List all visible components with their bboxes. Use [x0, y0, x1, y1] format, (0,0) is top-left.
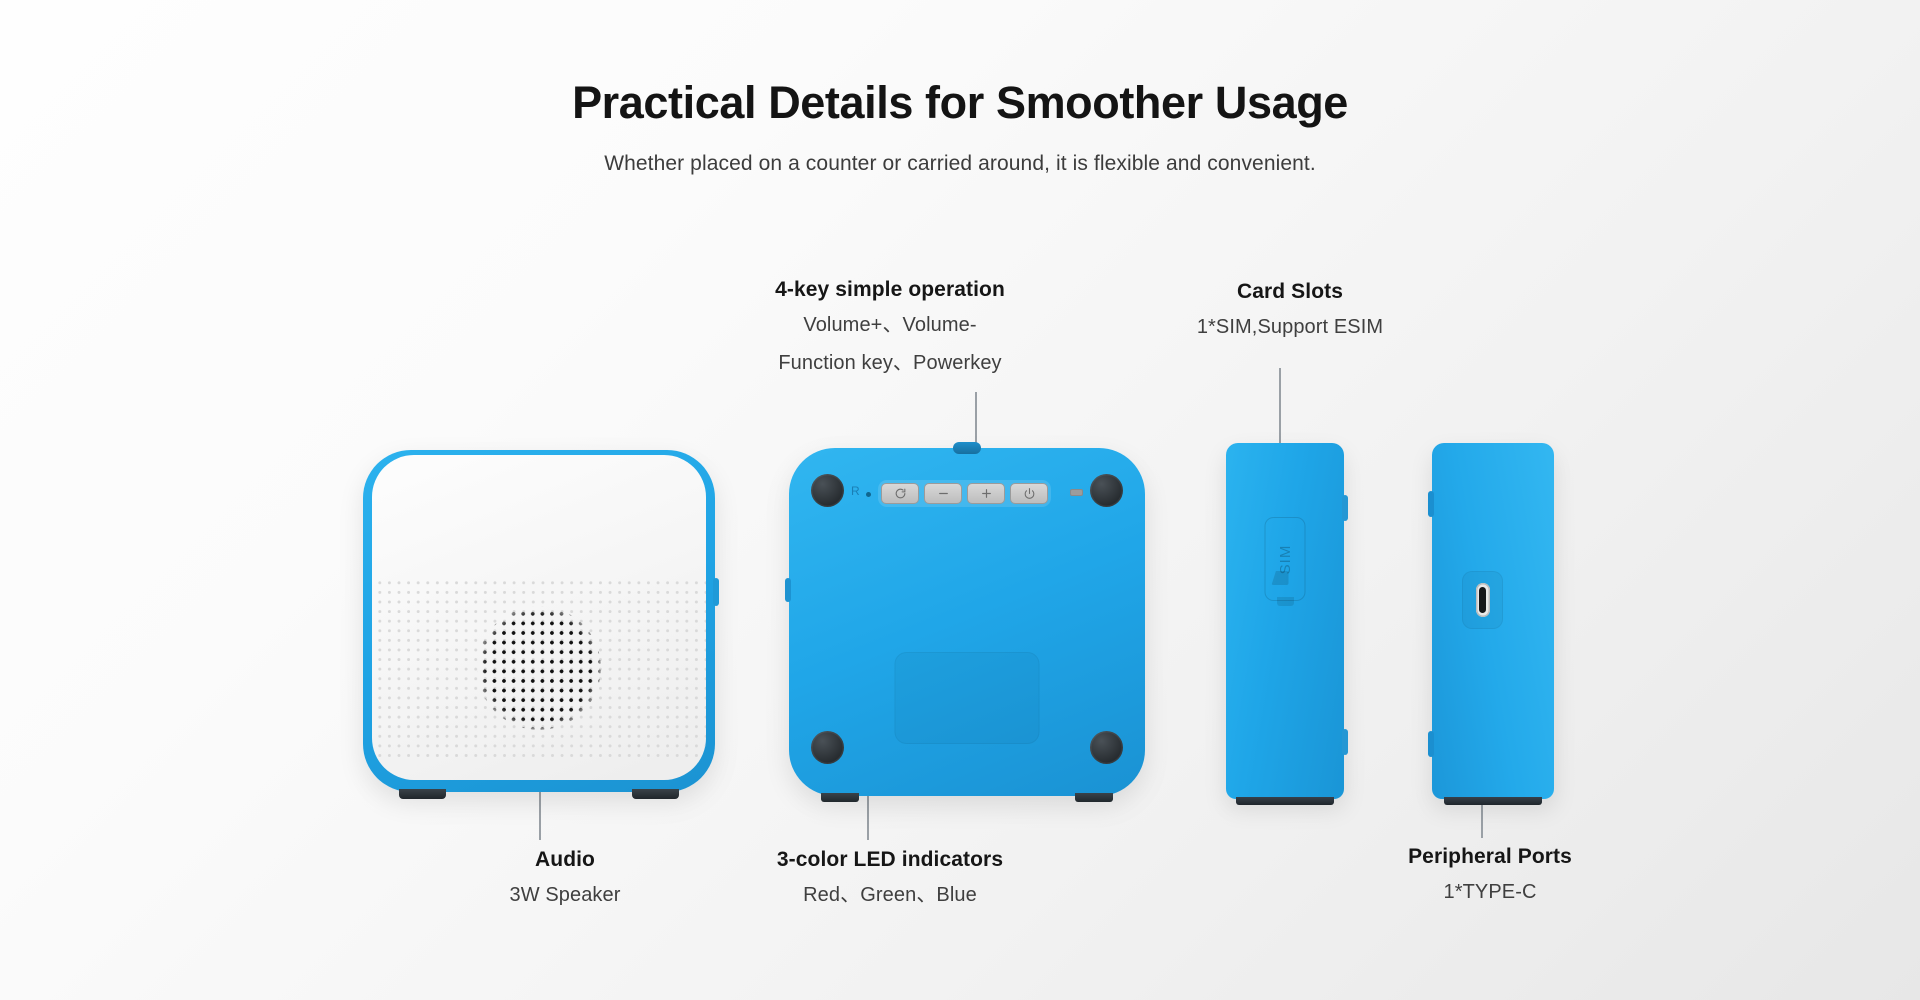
front-side-button: [713, 578, 719, 606]
back-top-notch: [953, 442, 981, 454]
minus-icon: [937, 487, 950, 500]
sim-tray-label: SIM: [1276, 544, 1293, 574]
back-foot-left: [821, 793, 859, 802]
rubber-foot-bottom-right: [1090, 731, 1123, 764]
callout-keys-line1: Volume+、Volume-: [700, 311, 1080, 340]
callout-keys-line2: Function key、Powerkey: [700, 349, 1080, 378]
type-c-recess: [1462, 571, 1503, 629]
front-foot-right: [632, 789, 679, 799]
callout-led-title: 3-color LED indicators: [700, 848, 1080, 872]
reset-loop-icon: [894, 487, 907, 500]
callout-audio: Audio 3W Speaker: [400, 848, 730, 910]
type-c-port-icon[interactable]: [1476, 583, 1490, 617]
callout-card-slots: Card Slots 1*SIM,Support ESIM: [1115, 280, 1465, 342]
speaker-grille-core: [477, 606, 601, 730]
callout-card-slots-title: Card Slots: [1115, 280, 1465, 304]
callout-card-slots-sub: 1*SIM,Support ESIM: [1115, 313, 1465, 342]
type-c-port-inner: [1479, 587, 1486, 613]
device-sim-side-view: SIM: [1226, 443, 1344, 799]
callout-audio-sub: 3W Speaker: [400, 881, 730, 910]
speaker-grille: [372, 575, 706, 761]
sim-tray-tab: [1277, 597, 1294, 606]
back-side-button: [785, 578, 791, 602]
sim-side-button-top: [1342, 495, 1348, 521]
port-side-foot: [1444, 797, 1542, 805]
sim-side-shell: [1226, 443, 1344, 799]
sim-card-icon: [1272, 571, 1289, 585]
back-foot-right: [1075, 793, 1113, 802]
callout-peripheral-ports: Peripheral Ports 1*TYPE-C: [1300, 845, 1680, 907]
callout-ports-title: Peripheral Ports: [1300, 845, 1680, 869]
page-subtitle: Whether placed on a counter or carried a…: [0, 152, 1920, 176]
back-label-panel: [895, 652, 1040, 744]
sim-side-button-bottom: [1342, 729, 1348, 755]
button-strip: [878, 480, 1051, 507]
port-side-button-bottom: [1428, 731, 1434, 757]
power-key[interactable]: [1010, 483, 1048, 504]
device-back-view: R: [789, 448, 1145, 796]
callout-ports-sub: 1*TYPE-C: [1300, 878, 1680, 907]
reset-label: R: [851, 484, 860, 498]
reset-pinhole[interactable]: [866, 492, 871, 497]
led-indicator-window: [1070, 489, 1083, 496]
plus-icon: [980, 487, 993, 500]
rubber-foot-top-left: [811, 474, 844, 507]
callout-led-sub: Red、Green、Blue: [700, 881, 1080, 910]
front-foot-left: [399, 789, 446, 799]
port-side-button-top: [1428, 491, 1434, 517]
device-port-side-view: [1432, 443, 1554, 799]
page-header: Practical Details for Smoother Usage Whe…: [0, 0, 1920, 176]
function-key[interactable]: [881, 483, 919, 504]
front-face-panel: [372, 455, 706, 780]
callout-audio-title: Audio: [400, 848, 730, 872]
callout-keys-title: 4-key simple operation: [700, 278, 1080, 302]
rubber-foot-top-right: [1090, 474, 1123, 507]
volume-up-key[interactable]: [967, 483, 1005, 504]
callout-4-key-operation: 4-key simple operation Volume+、Volume- F…: [700, 278, 1080, 378]
power-icon: [1023, 487, 1036, 500]
device-front-view: [363, 450, 715, 792]
page-title: Practical Details for Smoother Usage: [0, 78, 1920, 128]
sim-card-tray[interactable]: SIM: [1265, 517, 1306, 601]
volume-down-key[interactable]: [924, 483, 962, 504]
rubber-foot-bottom-left: [811, 731, 844, 764]
callout-led-indicators: 3-color LED indicators Red、Green、Blue: [700, 848, 1080, 910]
sim-side-foot: [1236, 797, 1334, 805]
